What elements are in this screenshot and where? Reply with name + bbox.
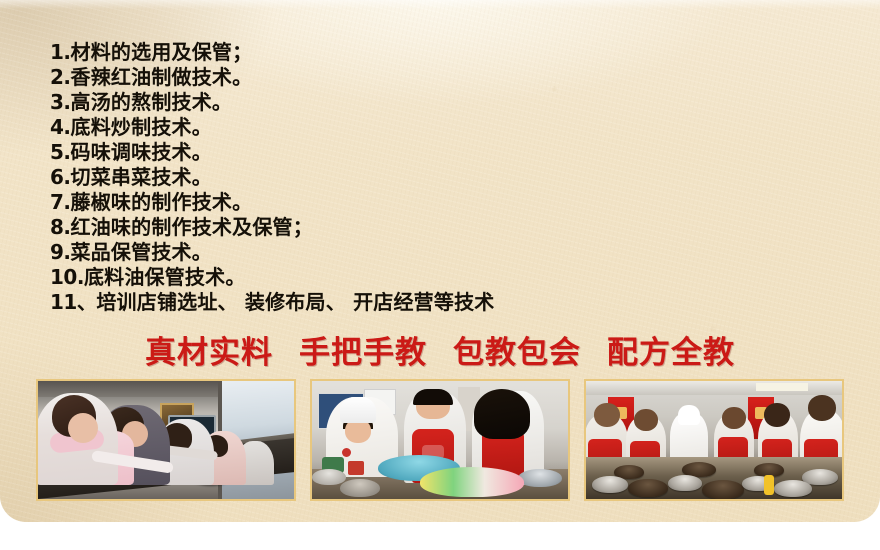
photo-classroom-practice [584,379,844,501]
slogan-banner: 真材实料手把手教包教包会配方全教 [0,327,880,372]
photo3-pot [668,475,702,491]
photo2-chef-badge [342,448,351,457]
photo2-red-container [348,461,364,475]
photo3-student-head [722,407,746,429]
photo3-pot [628,479,668,497]
list-item: 1. 材料的选用及保管； [50,36,850,61]
list-item-number: 3. [50,90,71,114]
list-item-number: 8. [50,215,71,239]
list-item-number: 5. [50,140,71,164]
photo3-chef-hat [678,405,700,425]
list-item: 11、 培训店铺选址、 装修布局、 开店经营等技术 [50,286,850,311]
photo3-student-head [594,403,620,427]
poster-root: 1. 材料的选用及保管； 2. 香辣红油制做技术。 3. 高汤的熬制技术。 4.… [0,0,880,550]
photo3-student-head [808,395,836,421]
photo2-male-student-hair [413,389,453,405]
photo2-bowl [340,479,380,497]
list-item: 2. 香辣红油制做技术。 [50,61,850,86]
slogan-segment: 包教包会 [453,327,581,372]
list-item-number: 7. [50,190,71,214]
list-item: 9. 菜品保管技术。 [50,236,850,261]
list-item: 3. 高汤的熬制技术。 [50,86,850,111]
curriculum-list: 1. 材料的选用及保管； 2. 香辣红油制做技术。 3. 高汤的熬制技术。 4.… [50,36,850,311]
list-item: 8. 红油味的制作技术及保管； [50,211,850,236]
photo2-bowl [312,469,346,485]
photo2-female-student-hair [474,389,530,439]
photo-inner [586,381,842,499]
slogan-segment: 手把手教 [299,327,427,372]
photo-strip [36,379,844,501]
photo1-student-face [68,413,98,443]
list-item: 10. 底料油保管技术。 [50,261,850,286]
list-item: 5. 码味调味技术。 [50,136,850,161]
photo3-oil-bottle [764,475,774,495]
list-item: 6. 切菜串菜技术。 [50,161,850,186]
slogan-segment: 真材实料 [145,327,273,372]
photo2-chef-hat [340,397,376,423]
photo-cooking-stations [36,379,296,501]
photo2-colorful-basin [420,467,524,497]
list-item-number: 2. [50,65,71,89]
photo3-student-head [764,403,790,427]
list-item-number: 9. [50,240,71,264]
list-item-number: 1. [50,40,71,64]
photo3-pot [774,480,812,497]
photo3-ceiling-light [756,383,808,391]
list-item-number: 6. [50,165,71,189]
photo3-pot [702,480,744,499]
photo2-steel-bowl [518,469,562,487]
list-item-number: 11、 [50,286,96,315]
slogan-segment: 配方全教 [607,327,735,372]
photo-chef-instruction [310,379,570,501]
photo3-student-head [634,409,658,431]
photo3-pot [592,476,628,493]
photo-inner [38,381,294,499]
list-item-number: 4. [50,115,71,139]
list-item-text: 培训店铺选址、 装修布局、 开店经营等技术 [96,286,494,315]
list-item: 7. 藤椒味的制作技术。 [50,186,850,211]
list-item: 4. 底料炒制技术。 [50,111,850,136]
photo-inner [312,381,568,499]
